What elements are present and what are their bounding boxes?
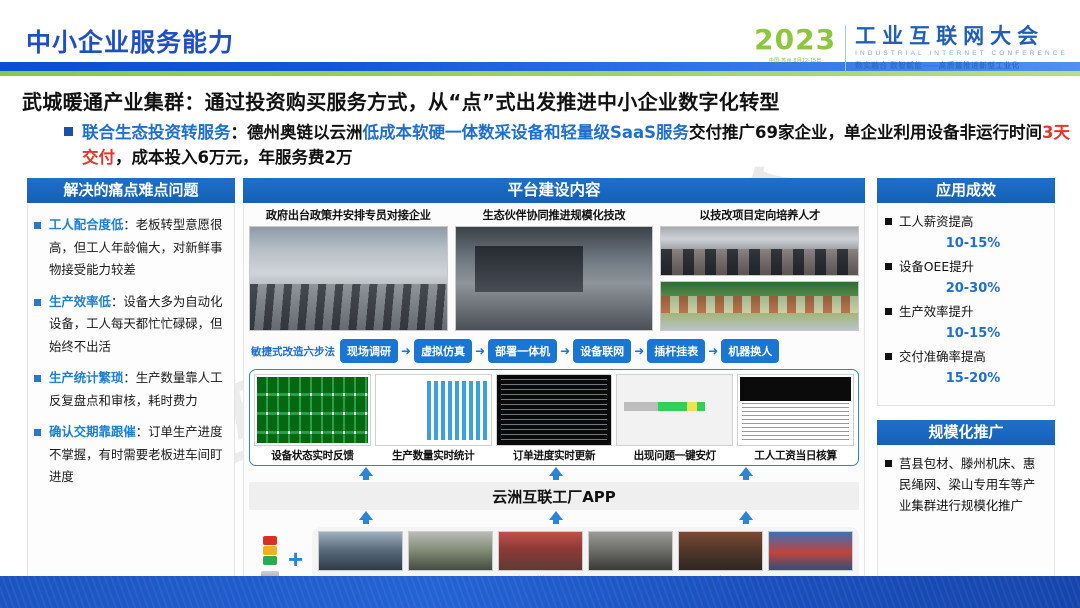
pain-point-key: 确认交期靠跟催 <box>49 424 136 439</box>
arrow-right-icon: ➜ <box>401 344 411 358</box>
order-progress-dark-screen <box>496 374 613 446</box>
page-header: 中小企业服务能力 2023 中国·苏州 8月12-15日 工业互联网大会 IND… <box>0 0 1080 80</box>
metal-band-saw <box>498 531 583 571</box>
scale-promotion-panel: 规模化推广 莒县包材、滕州机床、惠民绳网、梁山专用车等产业集群进行规模化推广 <box>877 420 1055 588</box>
flow-step[interactable]: 现场调研 <box>340 339 398 363</box>
pain-points-body: 工人配合度低：老板转型意愿很高，但工人年龄偏大，对新鲜事物接受能力较差 生产效率… <box>27 203 235 588</box>
flow-step[interactable]: 部署一体机 <box>488 339 557 363</box>
arrow-right-icon: ➜ <box>475 344 485 358</box>
lead-segment-4: 交付推广69家企业，单企业利用设备非运行时间 <box>689 123 1042 142</box>
pain-points-panel: 解决的痛点难点问题 工人配合度低：老板转型意愿很高，但工人年龄偏大，对新鲜事物接… <box>27 178 235 588</box>
photo-caption: 政府出台政策并安排专员对接企业 <box>249 207 448 223</box>
government-policy-photo <box>249 226 448 331</box>
result-value: 10-15% <box>899 234 1047 253</box>
andon-alert-app <box>616 374 733 446</box>
photo-caption: 生态伙伴协同推进规模化技改 <box>455 207 654 223</box>
laser-cutting-machine <box>318 531 403 571</box>
footer-band <box>0 576 1080 608</box>
platform-content-body: 政府出台政策并安排专员对接企业 生态伙伴协同推进规模化技改 以技改项目定向培养人… <box>243 203 865 588</box>
plus-icon: + <box>288 546 303 572</box>
bullet-square-icon <box>34 222 41 229</box>
scale-promotion-text: 莒县包材、滕州机床、惠民绳网、梁山专用车等产业集群进行规模化推广 <box>899 453 1047 516</box>
flow-step[interactable]: 插杆挂表 <box>647 339 705 363</box>
bullet-square-icon <box>885 308 892 315</box>
bending-machine <box>678 531 763 571</box>
result-label: 交付准确率提高 <box>899 346 986 367</box>
lead-segment-6: ，成本投入6万元，年服务费2万 <box>115 148 352 167</box>
lead-segment-2: ：德州奥链以云洲 <box>231 123 363 142</box>
result-value: 15-20% <box>899 369 1047 388</box>
list-item: 设备OEE提升 <box>885 256 1047 277</box>
platform-content-title: 平台建设内容 <box>243 178 865 203</box>
screen-caption: 设备状态实时反馈 <box>254 448 371 463</box>
logo-divider <box>845 26 846 71</box>
flow-step[interactable]: 虚拟仿真 <box>414 339 472 363</box>
application-results-title: 应用成效 <box>877 178 1055 203</box>
logo-chinese-name: 工业互联网大会 <box>855 26 1068 47</box>
result-value: 20-30% <box>899 279 1047 298</box>
screen-caption: 订单进度实时更新 <box>496 448 613 463</box>
production-count-charts <box>375 374 492 446</box>
list-item: 生产效率低：设备大多为自动化设备，工人每天都忙忙碌碌，但始终不出活 <box>34 291 226 359</box>
pain-point-key: 工人配合度低 <box>49 217 123 232</box>
bullet-square-icon <box>885 460 892 467</box>
photo-caption: 以技改项目定向培养人才 <box>660 207 859 223</box>
scale-promotion-title: 规模化推广 <box>877 420 1055 445</box>
bullet-square-icon <box>34 429 41 436</box>
list-item: 工人配合度低：老板转型意愿很高，但工人年龄偏大，对新鲜事物接受能力较差 <box>34 214 226 282</box>
result-value: 10-15% <box>899 324 1047 343</box>
arrow-up-icon <box>739 511 753 520</box>
school-gate-photo <box>660 281 859 331</box>
pain-points-title: 解决的痛点难点问题 <box>27 178 235 203</box>
platform-content-panel: 平台建设内容 政府出台政策并安排专员对接企业 生态伙伴协同推进规模化技改 以技改… <box>243 178 865 588</box>
result-label: 工人薪资提高 <box>899 211 973 232</box>
leveling-machine <box>768 531 853 571</box>
list-item: 确认交期靠跟催：订单生产进度不掌握，有时需要老板进车间盯进度 <box>34 421 226 489</box>
arrow-right-icon: ➜ <box>634 344 644 358</box>
flow-step[interactable]: 设备联网 <box>573 339 631 363</box>
ecosystem-partner-photo <box>455 226 654 331</box>
arrow-up-icon <box>359 467 373 476</box>
flow-label: 敏捷式改造六步法 <box>251 344 335 359</box>
welding-machine <box>588 531 673 571</box>
screen-column: 订单进度实时更新 <box>496 374 613 463</box>
worker-wage-report <box>737 374 854 446</box>
arrow-up-icon <box>359 511 373 520</box>
application-results-body: 工人薪资提高 10-15% 设备OEE提升 20-30% 生产效率提升 10-1… <box>877 203 1055 406</box>
photo-column: 政府出台政策并安排专员对接企业 <box>249 207 448 331</box>
up-arrows-row-2 <box>249 511 859 524</box>
bullet-square-icon <box>34 299 41 306</box>
logo-english-name: INDUSTRIAL INTERNET CONFERENCE <box>855 50 1068 57</box>
result-label: 设备OEE提升 <box>899 256 974 277</box>
list-item: 莒县包材、滕州机床、惠民绳网、梁山专用车等产业集群进行规模化推广 <box>885 453 1047 516</box>
arrow-right-icon: ➜ <box>560 344 570 358</box>
conference-logo: 2023 中国·苏州 8月12-15日 工业互联网大会 INDUSTRIAL I… <box>754 26 1068 71</box>
lead-segment-3: 低成本软硬一体数采设备和轻量级SaaS服务 <box>363 123 690 142</box>
bullet-square-icon <box>885 218 892 225</box>
photo-row: 政府出台政策并安排专员对接企业 生态伙伴协同推进规模化技改 以技改项目定向培养人… <box>249 207 859 331</box>
bullet-square-icon <box>885 263 892 270</box>
photo-column: 生态伙伴协同推进规模化技改 <box>455 207 654 331</box>
logo-text-block: 工业互联网大会 INDUSTRIAL INTERNET CONFERENCE 数… <box>855 26 1068 71</box>
list-item: 交付准确率提高 <box>885 346 1047 367</box>
list-item: 工人薪资提高 <box>885 211 1047 232</box>
six-step-flow: 敏捷式改造六步法 现场调研 ➜ 虚拟仿真 ➜ 部署一体机 ➜ 设备联网 ➜ 插杆… <box>249 339 859 363</box>
slide-title: 武城暖通产业集群：通过投资购买服务方式，从“点”式出发推进中小企业数字化转型 <box>22 86 780 115</box>
scale-promotion-body: 莒县包材、滕州机床、惠民绳网、梁山专用车等产业集群进行规模化推广 <box>877 445 1055 588</box>
arrow-up-icon <box>739 467 753 476</box>
logo-year-subtitle: 中国·苏州 8月12-15日 <box>754 57 836 64</box>
bullet-square-icon <box>64 127 73 136</box>
lead-text: 联合生态投资转服务：德州奥链以云洲低成本软硬一体数采设备和轻量级SaaS服务交付… <box>82 120 1072 170</box>
arrow-up-icon <box>549 467 563 476</box>
stamping-machine <box>408 531 493 571</box>
lead-segment-1: 联合生态投资转服务 <box>82 123 231 142</box>
screen-column: 设备状态实时反馈 <box>254 374 371 463</box>
screen-caption: 工人工资当日核算 <box>737 448 854 463</box>
list-item: 生产效率提升 <box>885 301 1047 322</box>
logo-year: 2023 <box>754 26 836 54</box>
screen-column: 出现问题一键安灯 <box>616 374 733 463</box>
up-arrows-row <box>249 467 859 480</box>
screen-column: 工人工资当日核算 <box>737 374 854 463</box>
result-label: 生产效率提升 <box>899 301 973 322</box>
screen-column: 生产数量实时统计 <box>375 374 492 463</box>
header-green-divider <box>0 71 1080 76</box>
app-screens-strip: 设备状态实时反馈 生产数量实时统计 订单进度实时更新 出现问题一键安灯 工人工资… <box>249 369 859 466</box>
lead-paragraph: 联合生态投资转服务：德州奥链以云洲低成本软硬一体数采设备和轻量级SaaS服务交付… <box>64 120 1072 170</box>
list-item: 生产统计繁琐：生产数量靠人工反复盘点和审核，耗时费力 <box>34 367 226 412</box>
logo-tagline: 数实融合 数智赋能——高质量推进新型工业化 <box>855 60 1068 71</box>
application-results-panel: 应用成效 工人薪资提高 10-15% 设备OEE提升 20-30% 生产效率提升… <box>877 178 1055 406</box>
arrow-right-icon: ➜ <box>708 344 718 358</box>
equipment-status-board <box>254 374 371 446</box>
screen-caption: 生产数量实时统计 <box>375 448 492 463</box>
screen-caption: 出现问题一键安灯 <box>616 448 733 463</box>
arrow-up-icon <box>549 511 563 520</box>
page-title: 中小企业服务能力 <box>26 23 234 59</box>
bullet-square-icon <box>34 375 41 382</box>
talent-training-photo <box>660 226 859 276</box>
pain-point-key: 生产效率低 <box>49 294 111 309</box>
app-name-bar: 云洲互联工厂APP <box>249 482 859 510</box>
flow-step[interactable]: 机器换人 <box>721 339 779 363</box>
pain-point-key: 生产统计繁琐 <box>49 370 123 385</box>
photo-column: 以技改项目定向培养人才 <box>660 207 859 331</box>
logo-year-block: 2023 中国·苏州 8月12-15日 <box>754 26 845 64</box>
bullet-square-icon <box>885 353 892 360</box>
